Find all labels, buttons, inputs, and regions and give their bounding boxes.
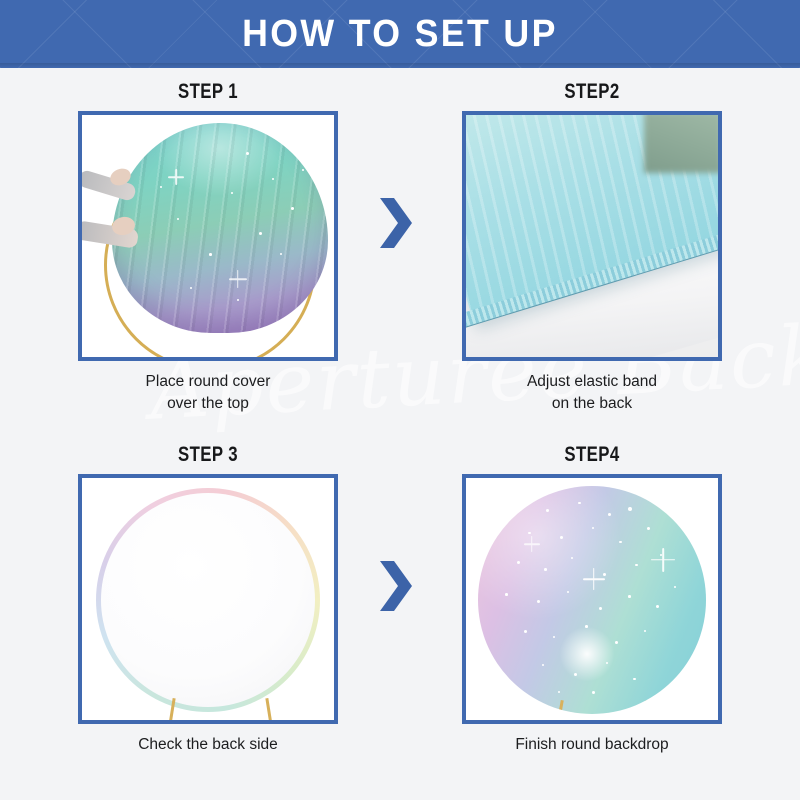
step-photo-4 [462, 474, 722, 724]
step-caption-3: Check the back side [78, 734, 338, 756]
caption-line-1: Finish round backdrop [462, 734, 722, 756]
step-card-4: STEP4 [462, 443, 722, 756]
page-header: HOW TO SET UP [0, 0, 800, 68]
step-photo-2 [462, 111, 722, 361]
background-blur [644, 111, 722, 173]
step-label-4: STEP4 [488, 443, 696, 467]
caption-line-2: on the back [462, 393, 722, 415]
step-photo-1 [78, 111, 338, 361]
step-label-1: STEP 1 [104, 80, 312, 104]
step-caption-2: Adjust elastic band on the back [462, 371, 722, 416]
round-cover-back-side [96, 488, 320, 712]
how-to-set-up-infographic: HOW TO SET UP Aperturee Backdrop STEP 1 [0, 0, 800, 800]
chevron-right-icon [374, 559, 418, 613]
step-card-2: STEP2 Adjust elastic band on the back [462, 80, 722, 416]
chevron-right-icon [374, 196, 418, 250]
step-caption-4: Finish round backdrop [462, 734, 722, 756]
step-label-3: STEP 3 [104, 443, 312, 467]
step-photo-3 [78, 474, 338, 724]
caption-line-1: Place round cover [78, 371, 338, 393]
step-caption-1: Place round cover over the top [78, 371, 338, 416]
star-dots-1 [112, 123, 328, 333]
caption-line-1: Adjust elastic band [462, 371, 722, 393]
caption-line-1: Check the back side [78, 734, 338, 756]
step-label-2: STEP2 [488, 80, 696, 104]
gradient-cover-fabric [112, 123, 328, 333]
steps-grid: STEP 1 [0, 68, 800, 800]
caption-line-2: over the top [78, 393, 338, 415]
page-title: HOW TO SET UP [242, 15, 558, 53]
step-card-3: STEP 3 Check the back side [78, 443, 338, 756]
finished-round-backdrop [478, 486, 706, 714]
step-card-1: STEP 1 [78, 80, 338, 416]
